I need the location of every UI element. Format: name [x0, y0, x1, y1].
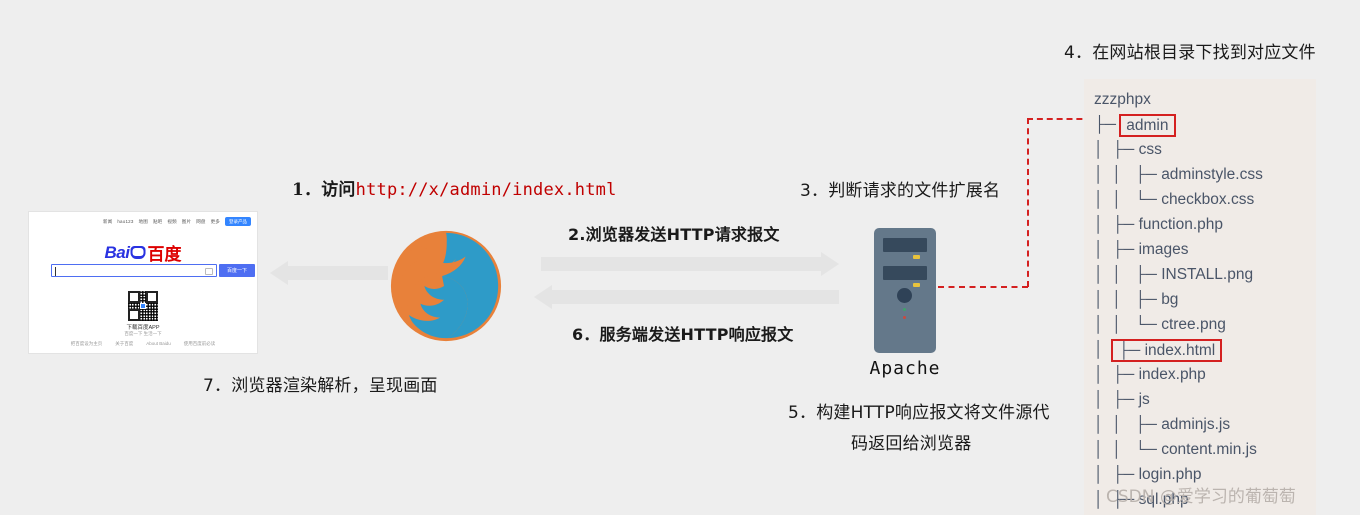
tree-row-name[interactable]: function.php [1139, 216, 1223, 233]
tree-row-name[interactable]: index.php [1139, 366, 1206, 383]
tree-row-name-highlighted[interactable]: admin [1119, 114, 1175, 137]
tree-row-connector: │ │ ├─ [1094, 416, 1161, 433]
tree-row[interactable]: │ │ ├─ adminstyle.css [1094, 162, 1316, 187]
tree-row-connector: │ ├─ [1094, 391, 1139, 408]
tree-row[interactable]: │ ├─ js [1094, 387, 1316, 412]
tree-row-name[interactable]: images [1139, 241, 1189, 258]
file-tree-panel[interactable]: zzzphpx ├─ admin│ ├─ css│ │ ├─ adminstyl… [1084, 79, 1316, 515]
nav-item-5[interactable]: 图片 [182, 219, 191, 225]
nav-item-1[interactable]: hao123 [117, 219, 133, 224]
arrow-shaft [287, 266, 388, 280]
tree-row[interactable]: │ │ └─ ctree.png [1094, 312, 1316, 337]
step-1-label: 1．访问http://x/admin/index.html [292, 175, 617, 200]
tree-row-connector: │ ├─ [1094, 216, 1139, 233]
dash-server-out [938, 286, 1028, 288]
tree-row-name-highlighted[interactable]: ├─ index.html [1111, 339, 1222, 362]
baidu-search-button[interactable]: 百度一下 [219, 264, 255, 277]
server-status-dot-red [903, 316, 906, 319]
tree-row[interactable]: │ ├─ index.html [1094, 337, 1316, 362]
baidu-logo-bai: Bai [105, 243, 130, 263]
tree-row[interactable]: │ │ ├─ INSTALL.png [1094, 262, 1316, 287]
footer-link-3[interactable]: 使用百度前必读 [184, 341, 216, 347]
step-4-label: 4．在网站根目录下找到对应文件 [1064, 38, 1316, 63]
firefox-browser-icon [387, 227, 505, 345]
tree-row[interactable]: │ ├─ index.php [1094, 362, 1316, 387]
tree-row[interactable]: │ │ ├─ adminjs.js [1094, 412, 1316, 437]
tree-row-name[interactable]: bg [1161, 291, 1178, 308]
arrow-head [534, 285, 552, 309]
tree-row-connector: │ │ └─ [1094, 441, 1161, 458]
arrow-head [270, 261, 288, 285]
qr-title: 下载百度APP [29, 323, 257, 331]
arrow-response [534, 285, 839, 309]
tree-row-name[interactable]: js [1139, 391, 1150, 408]
nav-item-7[interactable]: 更多 [211, 219, 220, 225]
tree-row-name[interactable]: content.min.js [1161, 441, 1257, 458]
baidu-logo: Bai 百度 [105, 240, 182, 265]
server-power-knob [897, 288, 912, 303]
tree-row-name[interactable]: checkbox.css [1161, 191, 1254, 208]
tree-row-connector: │ [1094, 341, 1112, 358]
tree-row-name[interactable]: adminstyle.css [1161, 166, 1263, 183]
tree-row-connector: │ ├─ [1094, 466, 1139, 483]
tree-root-label: zzzphpx [1094, 87, 1316, 112]
footer-link-2[interactable]: About Baidu [146, 341, 171, 347]
qr-subtitle: 百度一下 生活一下 [29, 331, 257, 337]
server-led-bottom [913, 283, 920, 287]
tree-row[interactable]: │ ├─ css [1094, 137, 1316, 162]
arrow-request [541, 252, 839, 276]
dash-rise-to-admin [1027, 118, 1029, 287]
baidu-paw-icon [130, 246, 145, 259]
tree-row-connector: │ │ └─ [1094, 316, 1161, 333]
step-2-label: 2.浏览器发送HTTP请求报文 [568, 221, 780, 245]
tree-row-connector: │ ├─ [1094, 141, 1139, 158]
step-5-label-line1: 5．构建HTTP响应报文将文件源代 [788, 398, 1050, 423]
footer-link-0[interactable]: 把百度设为主页 [71, 341, 103, 347]
tree-row-connector: ├─ [1094, 116, 1120, 133]
baidu-login-button[interactable]: 登录产品 [225, 217, 251, 226]
step-1-prefix: 1．访问 [292, 180, 356, 200]
tree-row-name[interactable]: adminjs.js [1161, 416, 1230, 433]
step-7-label: 7．浏览器渲染解析，呈现画面 [203, 371, 438, 396]
tree-row-connector: │ ├─ [1094, 241, 1139, 258]
tree-row-name[interactable]: login.php [1139, 466, 1202, 483]
tree-row-connector: │ │ ├─ [1094, 266, 1161, 283]
footer-link-1[interactable]: 关于百度 [115, 341, 133, 347]
arrow-shaft [541, 257, 822, 271]
tree-row-connector: │ │ ├─ [1094, 291, 1161, 308]
tree-row[interactable]: ├─ admin [1094, 112, 1316, 137]
csdn-watermark: CSDN @爱学习的葡萄萄 [1106, 482, 1296, 507]
server-drive-bay-bottom [883, 266, 927, 280]
qr-eye-tr [146, 291, 158, 303]
nav-item-2[interactable]: 地图 [139, 219, 148, 225]
diagram-canvas: 4．在网站根目录下找到对应文件 1．访问http://x/admin/index… [0, 0, 1360, 515]
arrow-shaft [551, 290, 839, 304]
nav-item-0[interactable]: 新闻 [103, 219, 112, 225]
camera-icon[interactable] [205, 268, 213, 275]
apache-server-icon [874, 228, 936, 353]
tree-row-list: ├─ admin│ ├─ css│ │ ├─ adminstyle.css│ │… [1094, 112, 1316, 512]
server-led-top [913, 255, 920, 259]
qr-eye-tl [128, 291, 140, 303]
qr-eye-bl [128, 309, 140, 321]
tree-row-name[interactable]: css [1139, 141, 1162, 158]
baidu-logo-du: 百度 [147, 240, 181, 265]
text-caret [55, 267, 56, 276]
nav-item-3[interactable]: 贴吧 [153, 219, 162, 225]
arrow-browser-render [270, 261, 388, 285]
tree-row[interactable]: │ │ ├─ bg [1094, 287, 1316, 312]
nav-item-6[interactable]: 网盘 [196, 219, 205, 225]
tree-row-name[interactable]: INSTALL.png [1161, 266, 1253, 283]
tree-row[interactable]: │ │ └─ checkbox.css [1094, 187, 1316, 212]
tree-row-connector: │ │ └─ [1094, 191, 1161, 208]
browser-window-mockup[interactable]: 新闻 hao123 地图 贴吧 视频 图片 网盘 更多 登录产品 Bai 百度 … [28, 211, 258, 354]
tree-row[interactable]: │ ├─ images [1094, 237, 1316, 262]
tree-row[interactable]: │ │ └─ content.min.js [1094, 437, 1316, 462]
tree-row-connector: │ │ ├─ [1094, 166, 1161, 183]
baidu-footer: 把百度设为主页 关于百度 About Baidu 使用百度前必读 [29, 341, 257, 347]
step-3-label: 3．判断请求的文件扩展名 [800, 176, 1000, 201]
server-status-dot-green [903, 308, 906, 311]
baidu-top-nav: 新闻 hao123 地图 贴吧 视频 图片 网盘 更多 登录产品 [103, 217, 251, 226]
step-6-label: 6．服务端发送HTTP响应报文 [572, 321, 793, 345]
step-5-label-line2: 码返回给浏览器 [851, 429, 971, 454]
baidu-search-input[interactable] [51, 264, 217, 277]
apache-label: Apache [845, 358, 965, 379]
step-1-url: http://x/admin/index.html [356, 180, 617, 200]
qr-code-image [128, 291, 158, 321]
nav-item-4[interactable]: 视频 [167, 219, 176, 225]
arrow-head [821, 252, 839, 276]
tree-row-name[interactable]: ctree.png [1161, 316, 1226, 333]
tree-row[interactable]: │ ├─ function.php [1094, 212, 1316, 237]
tree-row-connector: │ ├─ [1094, 366, 1139, 383]
server-drive-bay-top [883, 238, 927, 252]
